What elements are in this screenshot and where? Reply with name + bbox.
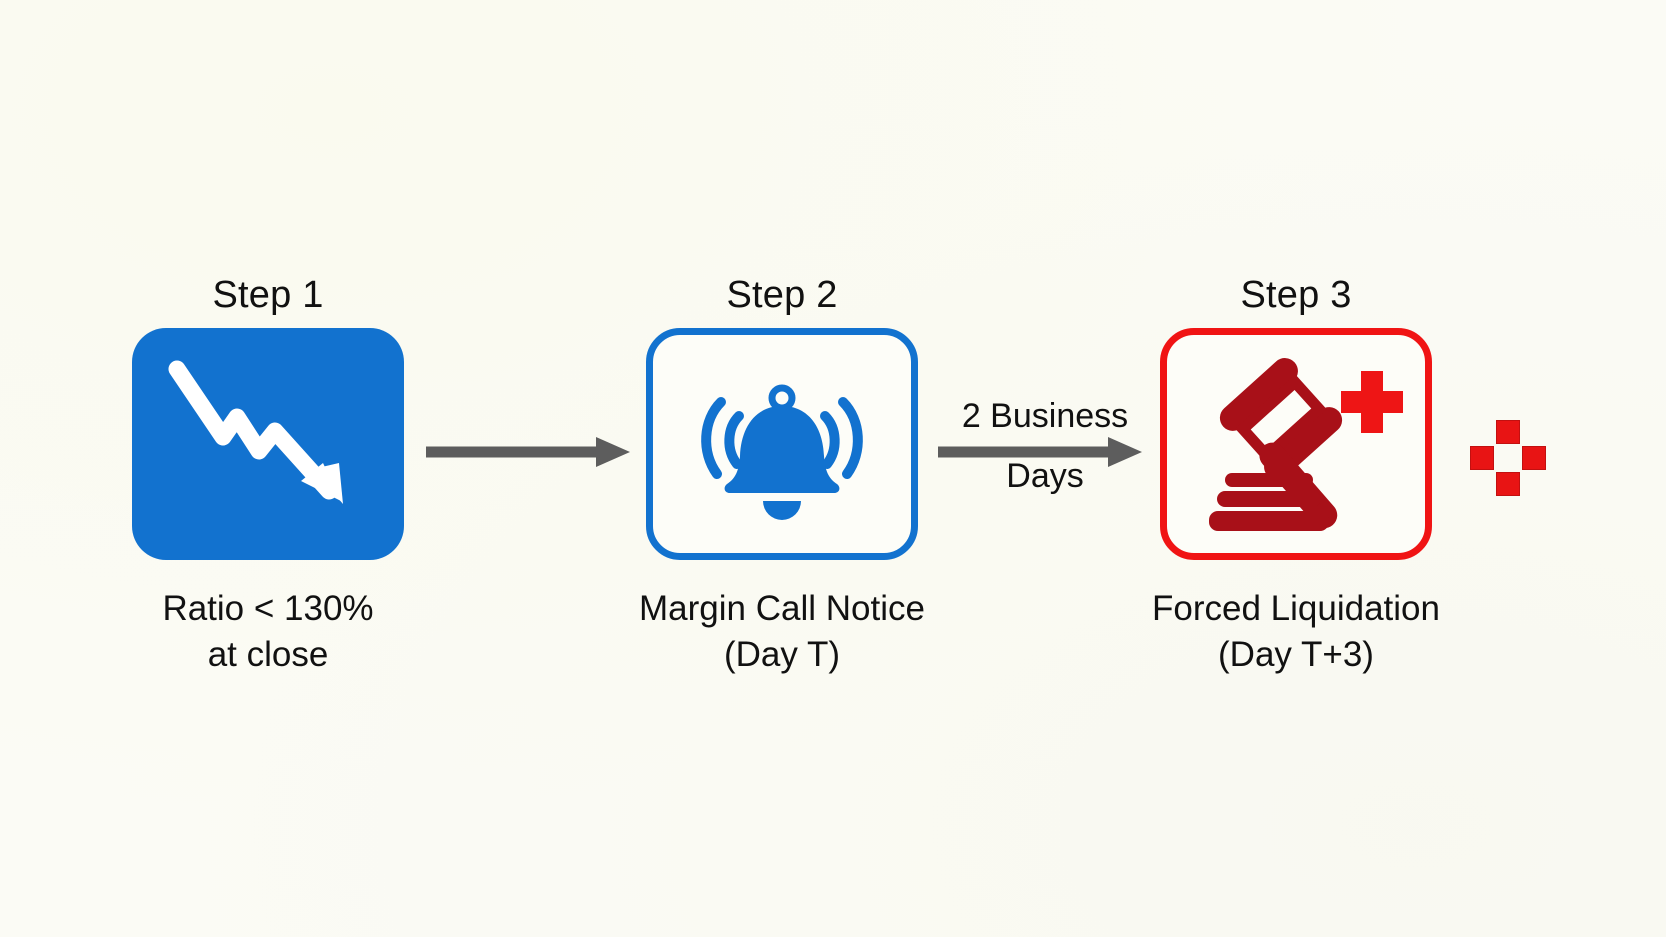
- step-3-caption-line2: (Day T+3): [1146, 632, 1446, 678]
- arrow-2-label-top: 2 Business: [930, 396, 1160, 436]
- step-3-icon-box[interactable]: [1160, 328, 1432, 560]
- step-2-caption-line1: Margin Call Notice: [639, 589, 925, 628]
- arrow-2-label-bottom: Days: [930, 456, 1160, 496]
- step-1-caption-line2: at close: [118, 632, 418, 678]
- process-flow: Step 1 Ratio < 130% at close: [0, 0, 1666, 937]
- step-2-caption-line2: (Day T): [632, 632, 932, 678]
- gavel-icon: [1189, 357, 1404, 532]
- step-1-icon-box[interactable]: [132, 328, 404, 560]
- step-2-icon-box[interactable]: [646, 328, 918, 560]
- cross-square-bottom: [1496, 472, 1520, 496]
- ringing-bell-icon: [687, 364, 877, 524]
- declining-chart-arrow-icon: [163, 359, 373, 529]
- step-2-caption: Margin Call Notice (Day T): [632, 586, 932, 678]
- red-four-square-plus-icon: [1470, 420, 1546, 496]
- cross-square-left: [1470, 446, 1494, 470]
- step-2-title: Step 2: [632, 276, 932, 314]
- diagram-canvas: Step 1 Ratio < 130% at close: [0, 0, 1666, 937]
- step-3-title: Step 3: [1146, 276, 1446, 314]
- step-2-block[interactable]: Step 2: [632, 276, 932, 678]
- step-1-caption-line1: Ratio < 130%: [162, 589, 373, 628]
- arrow-step1-to-step2: [424, 432, 632, 472]
- red-plus-icon: [1341, 371, 1403, 433]
- cross-square-top: [1496, 420, 1520, 444]
- step-1-caption: Ratio < 130% at close: [118, 586, 418, 678]
- step-1-block[interactable]: Step 1 Ratio < 130% at close: [118, 276, 418, 678]
- step-1-title: Step 1: [118, 276, 418, 314]
- step-3-block[interactable]: Step 3: [1146, 276, 1446, 678]
- step-3-caption: Forced Liquidation (Day T+3): [1146, 586, 1446, 678]
- cross-square-right: [1522, 446, 1546, 470]
- step-3-caption-line1: Forced Liquidation: [1152, 589, 1440, 628]
